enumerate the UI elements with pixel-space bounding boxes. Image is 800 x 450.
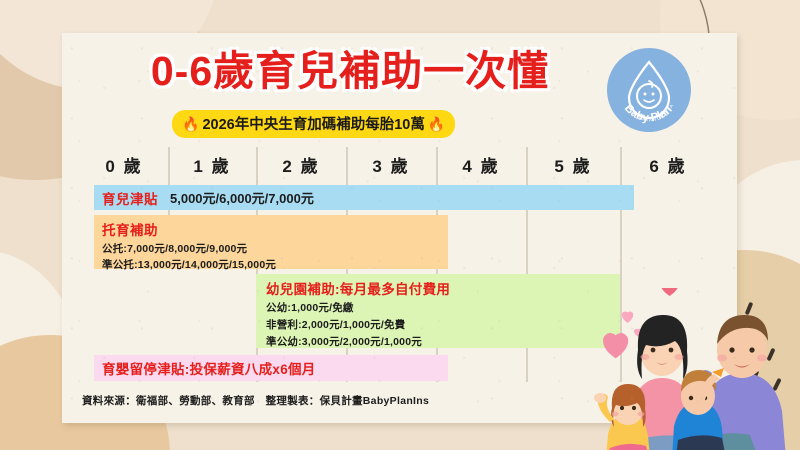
band-line-daycare-quasi-public: 準公托:13,000元/14,000元/15,000元 [102, 257, 448, 272]
fire-icon-right: 🔥 [428, 117, 445, 131]
band-line-preschool-quasi-public: 準公幼:3,000元/2,000元/1,000元 [266, 334, 620, 349]
fire-icon-left: 🔥 [182, 117, 199, 131]
subtitle-badge: 🔥 2026年中央生育加碼補助每胎10萬 🔥 [172, 110, 455, 138]
baby-drop-icon: Baby Plan INSURANCE PLAN [607, 48, 691, 132]
band-line-preschool-nonprofit: 非營利:2,000元/1,000元/免費 [266, 317, 620, 332]
band-parental-leave-allowance: 育嬰留停津貼:投保薪資八成x6個月 [94, 355, 448, 381]
infographic-card: 0-6歲育兒補助一次懂 🔥 2026年中央生育加碼補助每胎10萬 🔥 Baby … [62, 33, 737, 423]
band-childcare-allowance: 育兒津貼 5,000元/6,000元/7,000元 [94, 185, 634, 210]
band-preschool-subsidy: 幼兒園補助:每月最多自付費用 公幼:1,000元/免繳 非營利:2,000元/1… [256, 274, 620, 348]
age-header-0: 0 歲 [80, 147, 168, 181]
baby-plan-logo: Baby Plan INSURANCE PLAN [607, 48, 691, 132]
footer-source-text: 資料來源：衛福部、勞動部、教育部 整理製表：保貝計畫BabyPlanIns [82, 393, 429, 408]
subtitle-text: 2026年中央生育加碼補助每胎10萬 [202, 113, 424, 134]
age-header-1: 1 歲 [168, 147, 256, 181]
band-line-daycare-public: 公托:7,000元/8,000元/9,000元 [102, 241, 448, 256]
band-label-daycare-subsidy: 托育補助 [102, 219, 448, 239]
band-label-parental-leave-allowance: 育嬰留停津貼:投保薪資八成x6個月 [102, 358, 316, 378]
heart-icon-top [660, 288, 679, 296]
age-header-4: 4 歲 [436, 147, 526, 181]
band-label-childcare-allowance: 育兒津貼 [102, 188, 158, 208]
band-label-preschool-subsidy: 幼兒園補助:每月最多自付費用 [266, 278, 620, 298]
band-line-preschool-public: 公幼:1,000元/免繳 [266, 300, 620, 315]
band-value-childcare-allowance: 5,000元/6,000元/7,000元 [170, 188, 314, 207]
band-daycare-subsidy: 托育補助 公托:7,000元/8,000元/9,000元 準公托:13,000元… [94, 215, 448, 269]
age-header-2: 2 歲 [256, 147, 346, 181]
page-title: 0-6歲育兒補助一次懂 [90, 51, 610, 92]
age-header-5: 5 歲 [526, 147, 620, 181]
age-header-6: 6 歲 [620, 147, 716, 181]
age-header-3: 3 歲 [346, 147, 436, 181]
age-header-row: 0 歲 1 歲 2 歲 3 歲 4 歲 5 歲 6 歲 [80, 147, 720, 181]
family-illustration [582, 288, 800, 450]
